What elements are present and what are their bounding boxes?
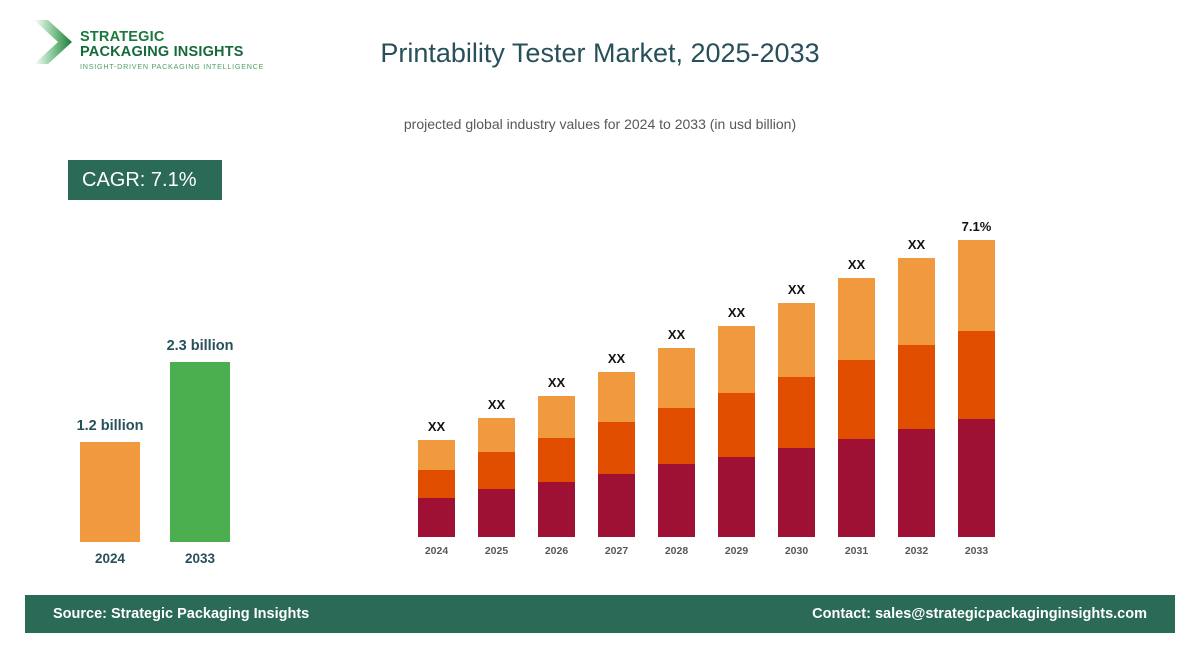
cagr-badge: CAGR: 7.1%: [68, 160, 222, 200]
bar-segment-segment-top: [538, 396, 575, 438]
bar-segment-segment-bottom: [538, 482, 575, 537]
bar-segment-segment-top: [478, 418, 515, 452]
bar-segment-segment-top: [958, 240, 995, 331]
bar-stack: [718, 326, 755, 537]
bar-segment-segment-top: [838, 278, 875, 360]
page-title: Printability Tester Market, 2025-2033: [0, 38, 1200, 69]
cagr-badge-label: CAGR: 7.1%: [82, 169, 196, 192]
endpoint-bar-2024: [80, 442, 140, 542]
bar-stack: [898, 258, 935, 537]
bar-category-label: 2028: [650, 545, 703, 557]
bar-value-label: XX: [524, 375, 589, 390]
bar-stack: [538, 396, 575, 537]
bar-segment-segment-middle: [658, 408, 695, 464]
bar-category-label: 2031: [830, 545, 883, 557]
bar-value-label: XX: [824, 257, 889, 272]
bar-category-label: 2024: [410, 545, 463, 557]
footer-bar: Source: Strategic Packaging Insights Con…: [25, 595, 1175, 633]
bar-segment-segment-bottom: [598, 474, 635, 537]
bar-category-label: 2027: [590, 545, 643, 557]
bar-segment-segment-top: [718, 326, 755, 393]
bar-value-label: XX: [464, 397, 529, 412]
bar-value-label: XX: [764, 282, 829, 297]
bar-segment-segment-middle: [598, 422, 635, 474]
bar-value-label: XX: [584, 351, 649, 366]
bar-stack: [838, 278, 875, 537]
bar-segment-segment-middle: [718, 393, 755, 457]
bar-value-label: XX: [404, 419, 469, 434]
bar-stack: [958, 240, 995, 537]
bar-stack: [418, 440, 455, 537]
endpoint-value-2033: 2.3 billion: [135, 338, 265, 354]
bar-value-label: XX: [704, 305, 769, 320]
bar-segment-segment-top: [598, 372, 635, 422]
bar-segment-segment-top: [418, 440, 455, 470]
chart-page: STRATEGIC PACKAGING INSIGHTS INSIGHT-DRI…: [0, 0, 1200, 650]
bar-category-label: 2029: [710, 545, 763, 557]
bar-segment-segment-bottom: [838, 439, 875, 537]
bar-segment-segment-bottom: [778, 448, 815, 537]
bar-segment-segment-middle: [898, 345, 935, 429]
bar-stack: [478, 418, 515, 537]
bar-segment-segment-middle: [538, 438, 575, 482]
bar-stack: [658, 348, 695, 537]
bar-value-label: XX: [644, 327, 709, 342]
bar-segment-segment-middle: [778, 377, 815, 448]
bar-segment-segment-bottom: [478, 489, 515, 537]
bar-stack: [598, 372, 635, 537]
bar-value-label: XX: [884, 237, 949, 252]
bar-segment-segment-middle: [418, 470, 455, 498]
bar-segment-segment-middle: [958, 331, 995, 419]
endpoint-category-2024: 2024: [65, 551, 155, 566]
bar-segment-segment-bottom: [658, 464, 695, 537]
footer-source: Source: Strategic Packaging Insights: [53, 606, 309, 622]
bar-segment-segment-top: [778, 303, 815, 377]
bar-stack: [778, 303, 815, 537]
bar-value-label: 7.1%: [944, 219, 1009, 234]
bar-category-label: 2025: [470, 545, 523, 557]
footer-contact: Contact: sales@strategicpackaginginsight…: [812, 606, 1147, 622]
stacked-forecast-chart: XX2024XX2025XX2026XX2027XX2028XX2029XX20…: [400, 190, 1020, 560]
bar-category-label: 2026: [530, 545, 583, 557]
bar-segment-segment-middle: [838, 360, 875, 439]
bar-segment-segment-bottom: [958, 419, 995, 537]
bar-segment-segment-middle: [478, 452, 515, 489]
bar-category-label: 2033: [950, 545, 1003, 557]
endpoint-value-2024: 1.2 billion: [45, 418, 175, 434]
bar-segment-segment-top: [658, 348, 695, 408]
bar-segment-segment-bottom: [898, 429, 935, 537]
bar-category-label: 2030: [770, 545, 823, 557]
bar-segment-segment-bottom: [418, 498, 455, 537]
bar-segment-segment-bottom: [718, 457, 755, 537]
endpoint-category-2033: 2033: [155, 551, 245, 566]
endpoint-bar-2033: [170, 362, 230, 542]
bar-category-label: 2032: [890, 545, 943, 557]
bar-segment-segment-top: [898, 258, 935, 345]
endpoint-comparison-chart: 1.2 billion 2.3 billion 2024 2033: [55, 320, 285, 570]
page-subtitle: projected global industry values for 202…: [0, 116, 1200, 132]
